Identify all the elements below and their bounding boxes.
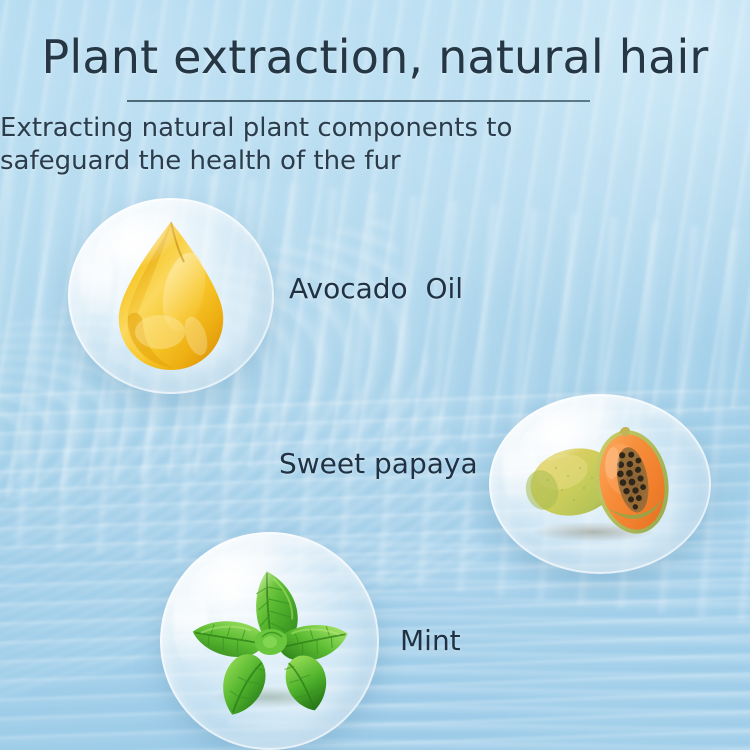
ingredient-label-avocado: Avocado Oil — [289, 272, 463, 305]
ingredient-bubble-mint — [160, 532, 379, 750]
header-divider — [127, 100, 590, 102]
ingredient-label-papaya: Sweet papaya — [279, 447, 478, 480]
subtitle-line-1: Extracting natural plant components to — [0, 113, 512, 143]
ingredient-bubble-papaya — [489, 394, 711, 574]
page-title: Plant extraction, natural hair — [0, 0, 750, 84]
mint-leaves-icon — [160, 532, 379, 750]
poster-subtitle: Extracting natural plant components to s… — [0, 112, 750, 179]
subtitle-line-2: safeguard the health of the fur — [0, 145, 750, 178]
ingredient-label-mint: Mint — [400, 624, 461, 657]
ingredient-bubble-avocado — [68, 198, 274, 394]
poster-header: Plant extraction, natural hair — [0, 0, 750, 84]
papaya-fruit-icon — [489, 394, 711, 574]
product-ingredient-poster: Plant extraction, natural hair Extractin… — [0, 0, 750, 750]
oil-droplet-icon — [68, 198, 274, 394]
